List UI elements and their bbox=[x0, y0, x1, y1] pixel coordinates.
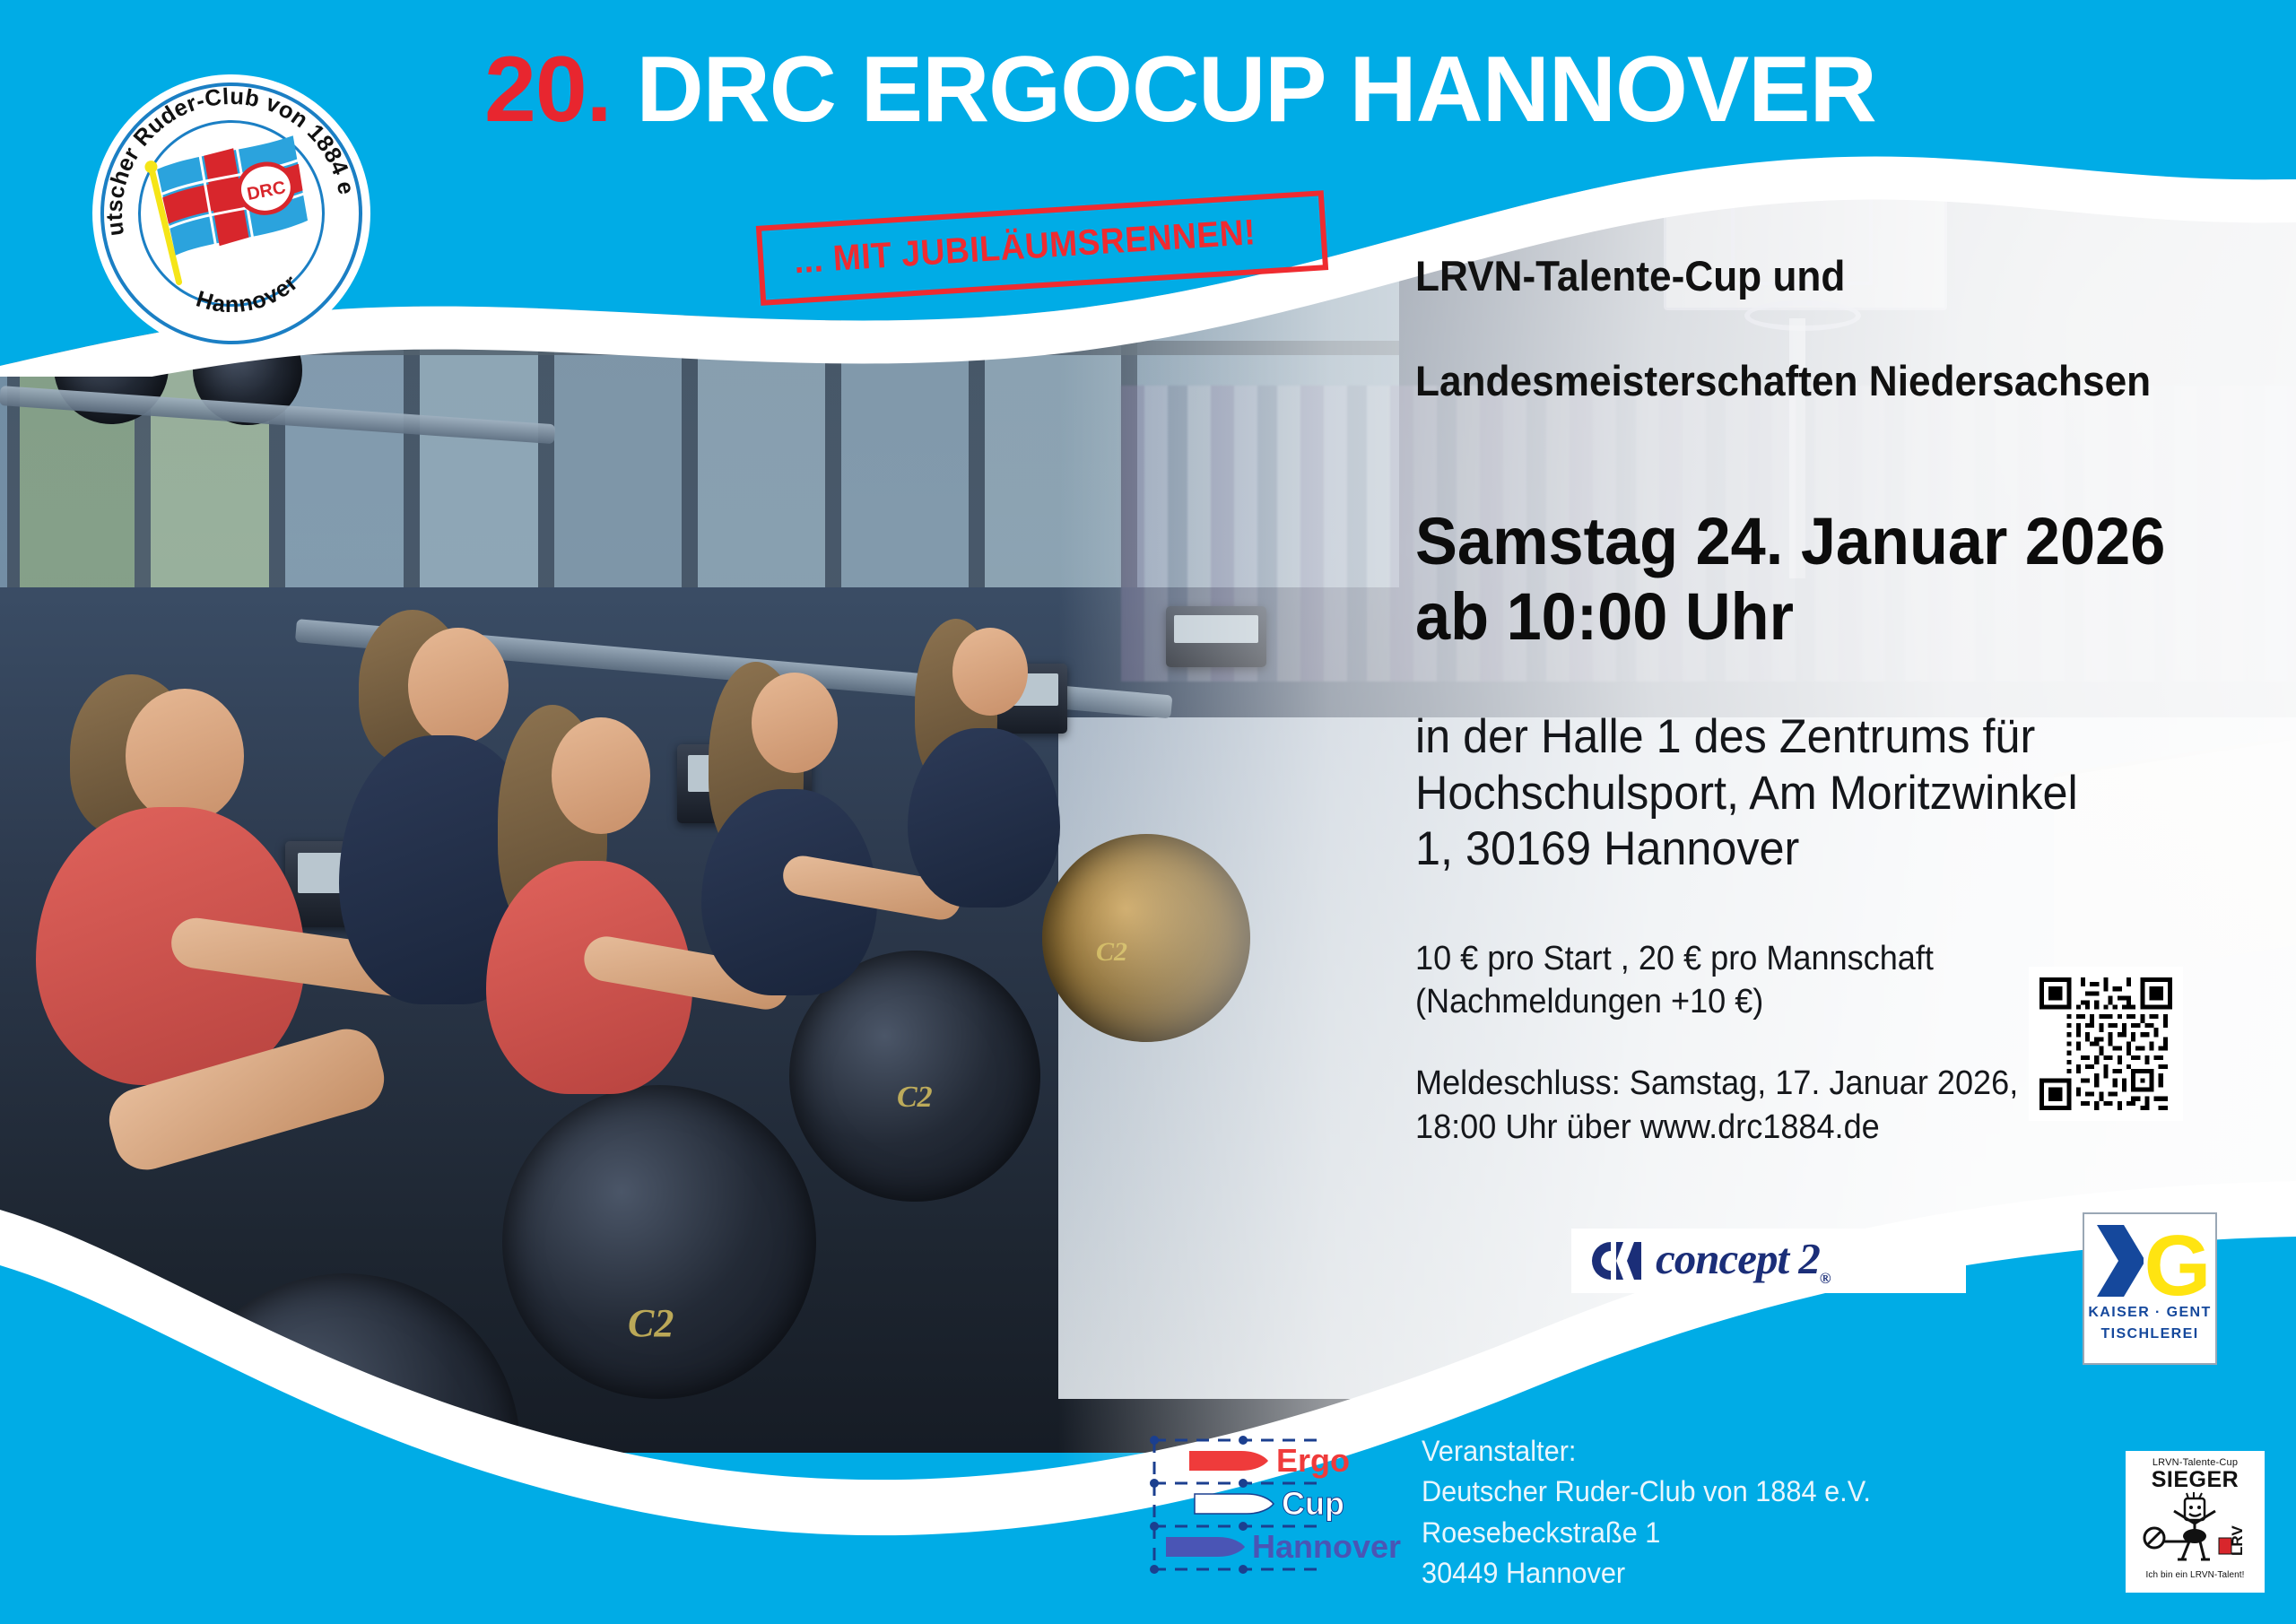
subtitle-line-2: Landesmeisterschaften Niedersachsen bbox=[1415, 356, 2174, 405]
erg-flywheel bbox=[170, 1273, 520, 1623]
flywheel-logo: C2 bbox=[628, 1300, 674, 1346]
event-venue: in der Halle 1 des Zentrums für Hochschu… bbox=[1415, 709, 2182, 878]
venue-line-1: in der Halle 1 des Zentrums für bbox=[1415, 709, 2182, 766]
rower-face bbox=[752, 673, 838, 773]
event-poster: C2 C2 C2 C2 bbox=[0, 0, 2296, 1624]
ergocup-hannover-logo: Ergo Cup Hannover bbox=[1150, 1433, 1405, 1581]
venue-line-2: Hochschulsport, Am Moritzwinkel bbox=[1415, 766, 2182, 822]
rower-torso bbox=[908, 728, 1060, 908]
venue-line-3: 1, 30169 Hannover bbox=[1415, 821, 2182, 878]
concept2-wordmark: concept 2® bbox=[1656, 1237, 1831, 1286]
organizer-street: Roesebeckstraße 1 bbox=[1422, 1513, 1871, 1553]
rower-face bbox=[552, 717, 650, 834]
organizer-city: 30449 Hannover bbox=[1422, 1553, 1871, 1594]
concept2-word: concept 2 bbox=[1656, 1234, 1820, 1283]
organizer-block: Veranstalter: Deutscher Ruder-Club von 1… bbox=[1422, 1431, 1871, 1594]
erg-flywheel bbox=[502, 1085, 816, 1399]
concept2-mark-icon bbox=[1584, 1240, 1650, 1281]
event-date-line-2: ab 10:00 Uhr bbox=[1415, 579, 2182, 655]
sieger-badge-line-2: SIEGER bbox=[2152, 1469, 2239, 1491]
rower-face bbox=[952, 628, 1028, 716]
kaiser-gent-letter: G bbox=[2144, 1220, 2210, 1302]
jubilee-banner-label: ... MIT JUBILÄUMSRENNEN! bbox=[793, 213, 1257, 282]
kaiser-gent-name: KAISER · GENT bbox=[2088, 1302, 2211, 1324]
rower-face bbox=[408, 628, 509, 744]
event-date: Samstag 24. Januar 2026 ab 10:00 Uhr bbox=[1415, 504, 2182, 654]
lrvn-sieger-badge: LRVN-Talente-Cup SIEGER LRV Ich bin ein … bbox=[2126, 1451, 2265, 1593]
poster-title: 20. DRC ERGOCUP HANNOVER bbox=[484, 43, 1876, 136]
subtitle-line-1: LRVN-Talente-Cup und bbox=[1415, 251, 2174, 300]
concept2-registered-mark: ® bbox=[1820, 1269, 1831, 1286]
sieger-stick-figure-icon: LRV bbox=[2142, 1491, 2249, 1567]
rower-face bbox=[126, 689, 244, 823]
ergocup-row-3: Hannover bbox=[1252, 1528, 1401, 1565]
qr-code-icon bbox=[2039, 977, 2172, 1110]
sieger-lrv-label: LRV bbox=[2229, 1525, 2246, 1556]
title-edition-number: 20. bbox=[484, 38, 612, 142]
event-date-line-1: Samstag 24. Januar 2026 bbox=[1415, 504, 2182, 579]
ergocup-row-2: Cup bbox=[1282, 1485, 1344, 1522]
drc-club-logo: Deutscher Ruder-Club von 1884 e.V. Hanno… bbox=[74, 56, 389, 371]
kaiser-gent-mark-icon: G bbox=[2090, 1220, 2210, 1302]
title-main-text: DRC ERGOCUP HANNOVER bbox=[636, 38, 1875, 142]
kaiser-gent-trade: TISCHLEREI bbox=[2100, 1324, 2198, 1345]
flywheel-logo: C2 bbox=[332, 1489, 387, 1541]
sieger-badge-line-3: Ich bin ein LRVN-Talent! bbox=[2145, 1570, 2244, 1580]
organizer-label: Veranstalter: bbox=[1422, 1431, 1871, 1472]
qr-code[interactable] bbox=[2029, 967, 2183, 1121]
flywheel-logo: C2 bbox=[897, 1081, 933, 1115]
ergocup-row-1: Ergo bbox=[1276, 1442, 1350, 1479]
sponsor-concept2-logo: concept 2® bbox=[1571, 1229, 1966, 1293]
sponsor-kaiser-gent-logo: G KAISER · GENT TISCHLEREI bbox=[2083, 1212, 2217, 1365]
organizer-name: Deutscher Ruder-Club von 1884 e.V. bbox=[1422, 1472, 1871, 1512]
